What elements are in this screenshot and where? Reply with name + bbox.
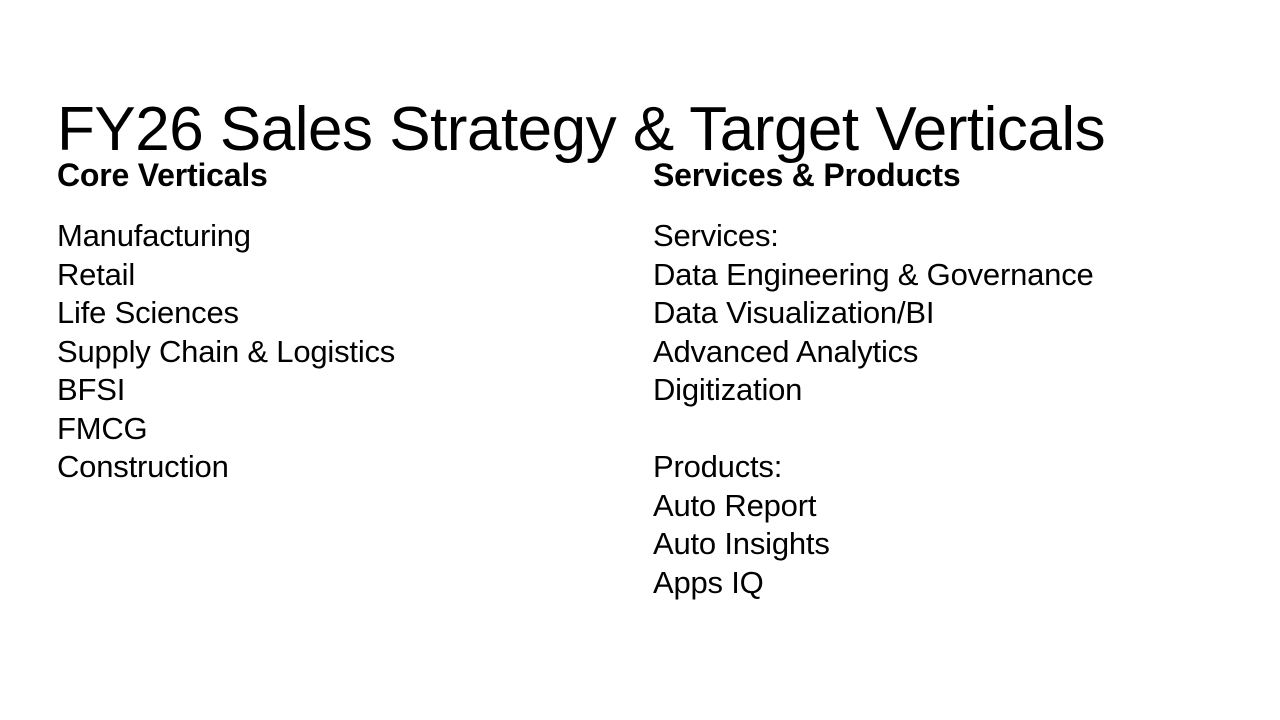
list-item: Data Engineering & Governance <box>653 256 1253 295</box>
services-products-heading: Services & Products <box>653 155 1253 195</box>
list-item: Advanced Analytics <box>653 333 1253 372</box>
list-item: Manufacturing <box>57 217 617 256</box>
list-item: Data Visualization/BI <box>653 294 1253 333</box>
core-verticals-heading: Core Verticals <box>57 155 617 195</box>
list-item: Auto Insights <box>653 525 1253 564</box>
list-item: Digitization <box>653 371 1253 410</box>
core-verticals-list: Manufacturing Retail Life Sciences Suppl… <box>57 217 617 487</box>
column-core-verticals: Core Verticals Manufacturing Retail Life… <box>57 155 617 487</box>
products-group-label: Products: <box>653 448 1253 487</box>
list-item: Retail <box>57 256 617 295</box>
services-group-label: Services: <box>653 217 1253 256</box>
services-products-list: Services: Data Engineering & Governance … <box>653 217 1253 602</box>
list-gap <box>653 410 1253 449</box>
column-services-products: Services & Products Services: Data Engin… <box>653 155 1253 602</box>
list-item: Supply Chain & Logistics <box>57 333 617 372</box>
list-item: Apps IQ <box>653 564 1253 603</box>
list-item: Construction <box>57 448 617 487</box>
slide-canvas: FY26 Sales Strategy & Target Verticals C… <box>0 0 1280 720</box>
list-item: FMCG <box>57 410 617 449</box>
list-item: BFSI <box>57 371 617 410</box>
list-item: Life Sciences <box>57 294 617 333</box>
list-item: Auto Report <box>653 487 1253 526</box>
